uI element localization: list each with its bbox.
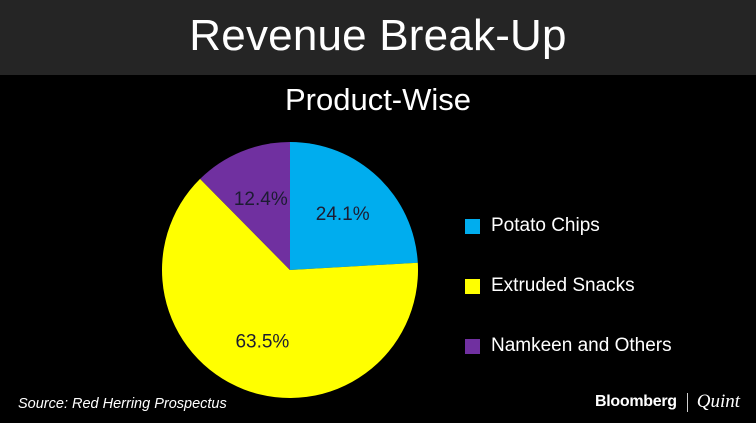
legend-item-label: Namkeen and Others	[491, 336, 672, 356]
chart-legend: Potato Chips Extruded Snacks Namkeen and…	[465, 196, 740, 376]
page-title: Revenue Break-Up	[0, 5, 756, 67]
pie-slice-value-label: 63.5%	[235, 332, 289, 353]
pie-chart: 24.1%63.5%12.4%	[162, 142, 418, 398]
pie-chart-svg: 24.1%63.5%12.4%	[162, 142, 418, 398]
legend-item-label: Potato Chips	[491, 216, 600, 236]
legend-item-label: Extruded Snacks	[491, 276, 635, 296]
brand-name-quint: Quint	[697, 392, 740, 412]
pie-slice-value-label: 12.4%	[234, 189, 288, 210]
page-subtitle: Product-Wise	[0, 80, 756, 120]
pie-slice-value-label: 24.1%	[316, 204, 370, 225]
pie-slice-group	[162, 142, 418, 398]
legend-swatch-icon	[465, 279, 480, 294]
brand-divider	[687, 393, 688, 412]
slide-canvas: Revenue Break-Up Product-Wise 24.1%63.5%…	[0, 0, 756, 423]
legend-item-extruded-snacks[interactable]: Extruded Snacks	[465, 256, 740, 316]
legend-swatch-icon	[465, 339, 480, 354]
legend-swatch-icon	[465, 219, 480, 234]
brand-logo: Bloomberg Quint	[595, 391, 740, 413]
brand-name-bloomberg: Bloomberg	[595, 392, 677, 412]
source-note: Source: Red Herring Prospectus	[18, 396, 227, 412]
legend-item-potato-chips[interactable]: Potato Chips	[465, 196, 740, 256]
legend-item-namkeen-and-others[interactable]: Namkeen and Others	[465, 316, 740, 376]
